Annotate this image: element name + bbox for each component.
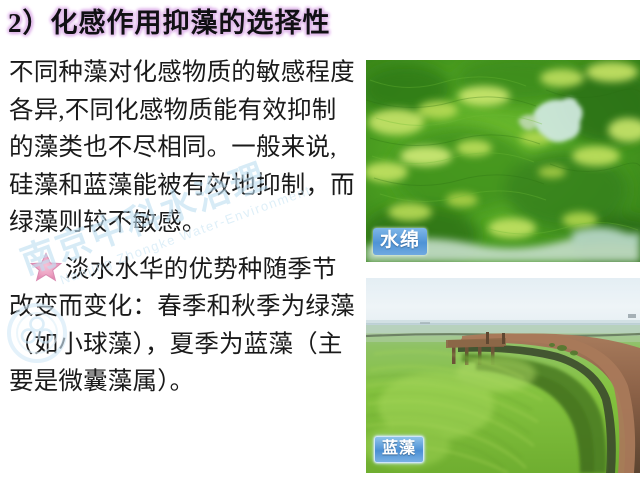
page-title: 2）化感作用抑藻的选择性 [8,4,448,44]
paragraph-sensitivity: 不同种藻对化感物质的敏感程度各异,不同化感物质能有效抑制的藻类也不尽相同。一般来… [9,54,361,242]
paragraph-seasonal: 淡水水华的优势种随季节改变而变化：春季和秋季为绿藻（如小球藻），夏季为蓝藻（主要… [9,251,361,401]
spirogyra-photo: 水绵 [366,60,640,262]
cyanobacteria-photo: 蓝藻 [366,278,640,473]
cyanobacteria-photo-label: 蓝藻 [374,436,424,463]
star-icon [29,252,63,282]
body-text-column: 不同种藻对化感物质的敏感程度各异,不同化感物质能有效抑制的藻类也不尽相同。一般来… [9,54,361,474]
paragraph-seasonal-line1: 淡水水华的优势种随季 [65,256,312,283]
slide-canvas: 2）化感作用抑藻的选择性 不同种藻对化感物质的敏感程度各异,不同化感物质能有效抑… [0,0,640,480]
spirogyra-photo-label: 水绵 [373,228,427,255]
